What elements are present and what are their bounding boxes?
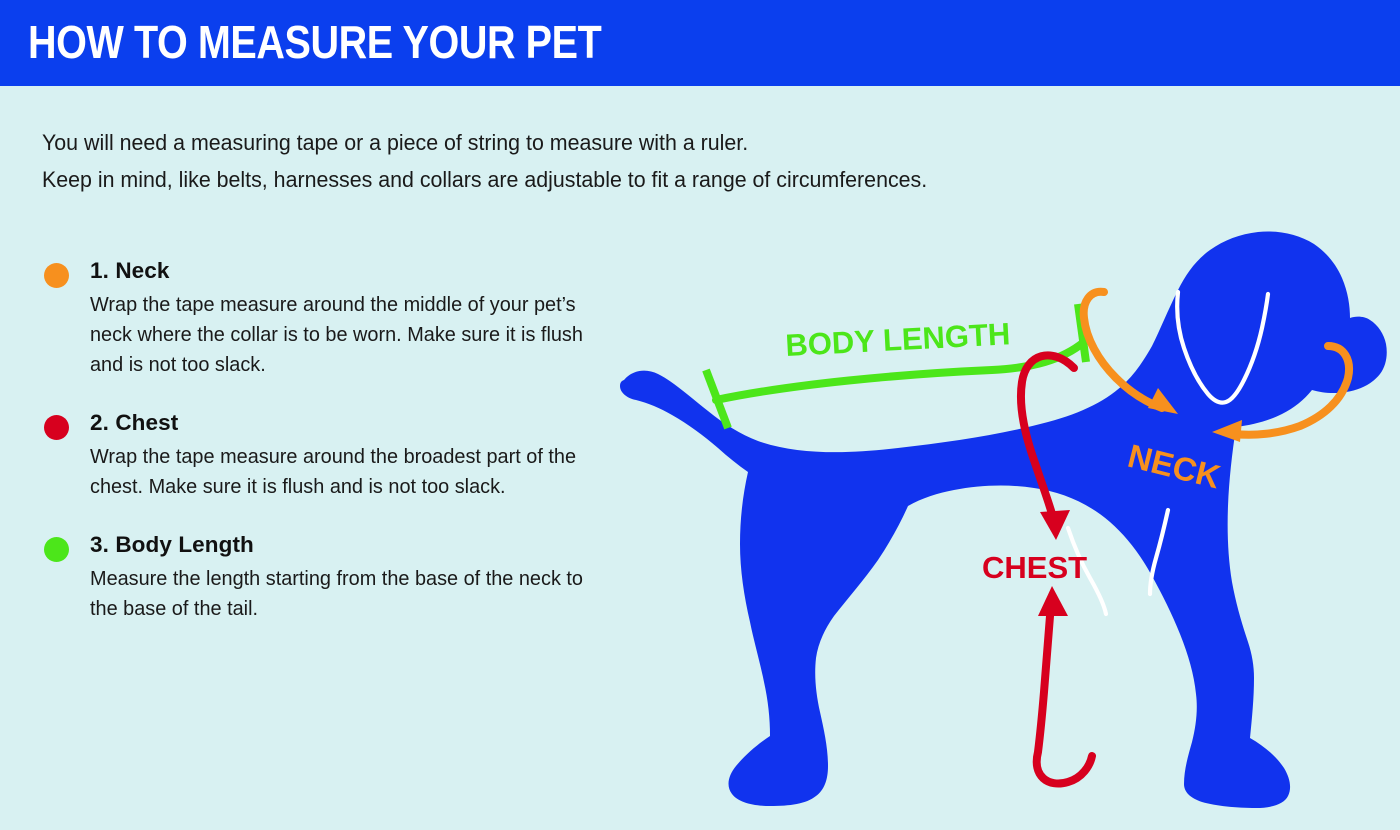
chest-loop-lower <box>1037 616 1092 784</box>
body-length-label: BODY LENGTH <box>785 316 1012 363</box>
step-body-body-length: Measure the length starting from the bas… <box>90 564 604 624</box>
intro-line-1: You will need a measuring tape or a piec… <box>42 124 1239 161</box>
step-item-neck: 1. Neck Wrap the tape measure around the… <box>42 256 622 380</box>
chest-arrowhead-up <box>1038 586 1068 616</box>
dog-measurement-diagram: BODY LENGTH NECK CHEST <box>612 222 1400 830</box>
step-heading-neck: 1. Neck <box>90 256 622 285</box>
step-heading-chest: 2. Chest <box>90 408 622 437</box>
measurement-steps-list: 1. Neck Wrap the tape measure around the… <box>42 256 622 652</box>
chest-arrowhead-down <box>1040 510 1070 540</box>
step-body-chest: Wrap the tape measure around the broades… <box>90 442 604 502</box>
intro-line-2: Keep in mind, like belts, harnesses and … <box>42 161 1239 198</box>
step-body-neck: Wrap the tape measure around the middle … <box>90 290 604 380</box>
page-title: HOW TO MEASURE YOUR PET <box>28 14 601 70</box>
bullet-dot-neck <box>44 263 69 288</box>
intro-paragraph: You will need a measuring tape or a piec… <box>42 124 1302 198</box>
step-item-body-length: 3. Body Length Measure the length starti… <box>42 530 622 624</box>
bullet-dot-chest <box>44 415 69 440</box>
step-heading-body-length: 3. Body Length <box>90 530 622 559</box>
header-bar: HOW TO MEASURE YOUR PET <box>0 0 1400 86</box>
chest-label: CHEST <box>982 550 1087 585</box>
step-item-chest: 2. Chest Wrap the tape measure around th… <box>42 408 622 502</box>
bullet-dot-body-length <box>44 537 69 562</box>
